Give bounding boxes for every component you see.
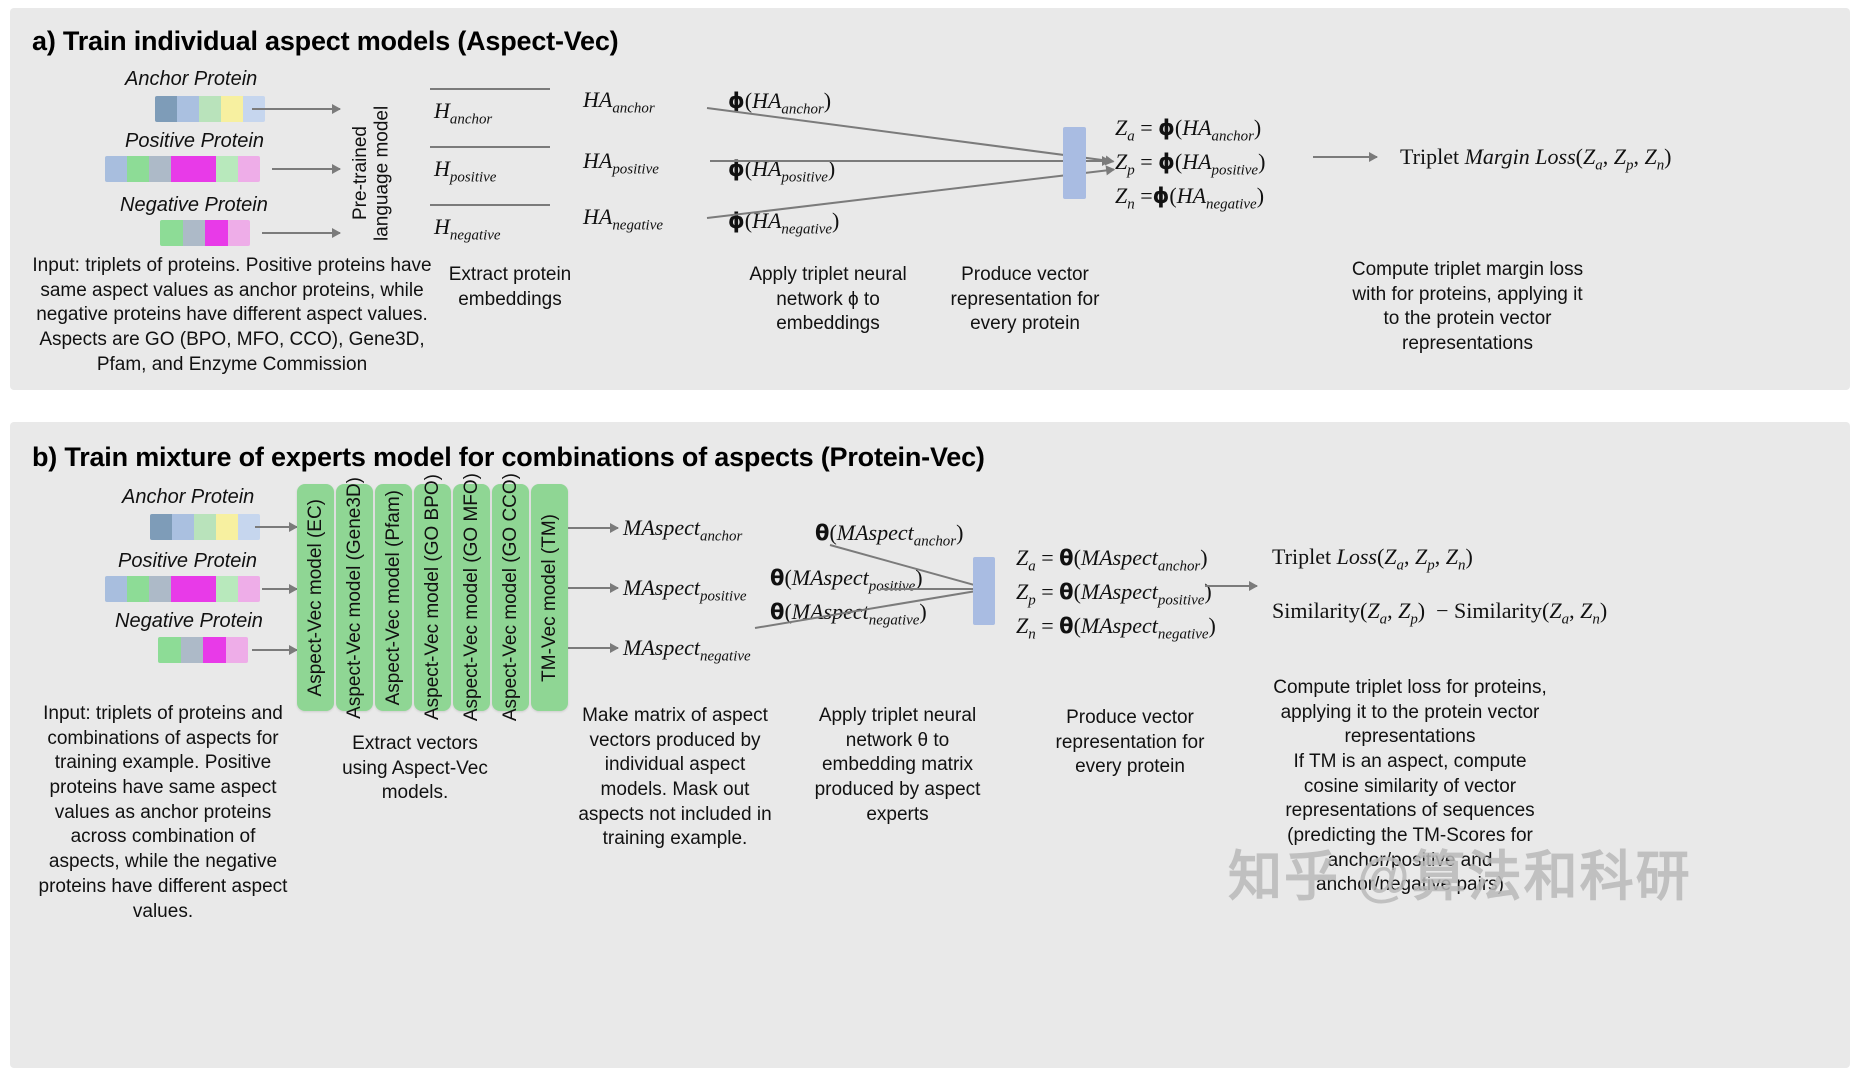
arrow-anchor-to-experts (255, 526, 297, 528)
h-negative-label: Hnegative (434, 214, 501, 244)
maspect-positive-label: MAspectpositive (623, 575, 746, 605)
protein-segment (194, 156, 216, 182)
caption-b-extract: Extract vectorsusing Aspect-Vecmodels. (330, 732, 500, 806)
arrow-to-loss-a (1313, 156, 1377, 158)
ha-positive-label: HApositive (583, 148, 659, 178)
panel-a: a) Train individual aspect models (Aspec… (10, 8, 1850, 390)
panel-a-title: a) Train individual aspect models (Aspec… (32, 26, 618, 57)
protein-segment (238, 156, 260, 182)
arrow-theta-positive (880, 588, 985, 590)
expert-model-box-4[interactable]: Aspect-Vec model (GO MFO) (453, 484, 490, 711)
anchor-protein-label-a: Anchor Protein (125, 68, 257, 91)
caption-b-input: Input: triplets of proteins and combinat… (38, 702, 288, 924)
arrow-experts-to-maspect-positive (568, 587, 618, 589)
pretrained-language-model-label: Pre-trainedlanguage model (350, 106, 393, 241)
expert-model-box-2[interactable]: Aspect-Vec model (Pfam) (375, 484, 412, 711)
z-negative-equation-a: Zn =ɸ(HAnegative) (1115, 183, 1264, 213)
protein-segment (199, 96, 221, 122)
caption-a-input: Input: triplets of proteins. Positive pr… (32, 254, 432, 377)
protein-segment (194, 514, 216, 540)
triplet-loss-b: Triplet Loss(Za, Zp, Zn) (1272, 544, 1473, 574)
negative-protein-bar-a (160, 220, 250, 246)
expert-model-label: Aspect-Vec model (GO MFO) (461, 473, 483, 721)
protein-segment (183, 220, 206, 246)
protein-segment (127, 576, 149, 602)
caption-a-compute: Compute triplet margin losswith for prot… (1335, 258, 1600, 357)
ha-anchor-label: HAanchor (583, 87, 655, 117)
arrow-positive-to-experts (262, 588, 297, 590)
protein-segment (238, 576, 260, 602)
expert-model-label: Aspect-Vec model (Pfam) (383, 490, 405, 705)
protein-segment (150, 514, 172, 540)
protein-segment (171, 576, 193, 602)
expert-model-label: Aspect-Vec model (GO CCO) (500, 473, 522, 721)
theta-positive-label: θ(MAspectpositive) (770, 565, 923, 595)
protein-segment (228, 220, 251, 246)
arrow-experts-to-maspect-anchor (568, 527, 618, 529)
protein-segment (177, 96, 199, 122)
protein-segment (221, 96, 243, 122)
protein-segment (105, 576, 127, 602)
positive-protein-bar-b (105, 576, 260, 602)
expert-model-label: Aspect-Vec model (EC) (305, 499, 327, 696)
protein-segment (216, 514, 238, 540)
protein-segment (216, 156, 238, 182)
protein-segment (105, 156, 127, 182)
caption-a-produce: Produce vectorrepresentation forevery pr… (920, 263, 1130, 337)
z-positive-equation-b: Zp = θ(MAspectpositive) (1016, 579, 1212, 609)
protein-segment (226, 637, 249, 663)
negative-protein-label-a: Negative Protein (120, 194, 268, 217)
z-anchor-equation-a: Za = ɸ(HAanchor) (1115, 115, 1261, 145)
arrow-phi-anchor (707, 107, 1114, 162)
protein-segment (160, 220, 183, 246)
arrow-positive-to-plm (272, 168, 340, 170)
protein-segment (149, 576, 171, 602)
protein-segment (205, 220, 228, 246)
h-negative-line (430, 204, 550, 206)
protein-vector-block-b (973, 557, 995, 625)
positive-protein-label-b: Positive Protein (118, 550, 257, 573)
protein-segment (203, 637, 226, 663)
expert-model-box-6[interactable]: TM-Vec model (TM) (531, 484, 568, 711)
panel-b-title: b) Train mixture of experts model for co… (32, 442, 985, 473)
protein-segment (194, 576, 216, 602)
maspect-negative-label: MAspectnegative (623, 635, 751, 665)
protein-segment (171, 156, 193, 182)
expert-model-box-0[interactable]: Aspect-Vec model (EC) (297, 484, 334, 711)
caption-b-make-matrix: Make matrix of aspectvectors produced by… (575, 704, 775, 852)
arrow-phi-positive (710, 160, 1110, 162)
positive-protein-label-a: Positive Protein (125, 130, 264, 153)
panel-b: b) Train mixture of experts model for co… (10, 422, 1850, 1068)
arrow-experts-to-maspect-negative (568, 647, 618, 649)
protein-vector-block-a (1063, 127, 1086, 199)
expert-model-label: Aspect-Vec model (GO BPO) (422, 474, 444, 720)
caption-a-extract: Extract proteinembeddings (410, 263, 610, 312)
h-anchor-line (430, 88, 550, 90)
caption-b-produce: Produce vectorrepresentation forevery pr… (1040, 706, 1220, 780)
z-negative-equation-b: Zn = θ(MAspectnegative) (1016, 613, 1216, 643)
arrow-to-loss-b (1205, 585, 1257, 587)
negative-protein-label-b: Negative Protein (115, 610, 263, 633)
expert-model-box-1[interactable]: Aspect-Vec model (Gene3D) (336, 484, 373, 711)
positive-protein-bar-a (105, 156, 260, 182)
ha-negative-label: HAnegative (583, 204, 663, 234)
arrow-negative-to-experts (252, 649, 297, 651)
h-positive-label: Hpositive (434, 156, 496, 186)
h-anchor-label: Hanchor (434, 98, 492, 128)
protein-segment (158, 637, 181, 663)
expert-model-box-5[interactable]: Aspect-Vec model (GO CCO) (492, 484, 529, 711)
protein-segment (149, 156, 171, 182)
expert-model-box-3[interactable]: Aspect-Vec model (GO BPO) (414, 484, 451, 711)
caption-b-tm-aspect: If TM is an aspect, computecosine simila… (1250, 750, 1570, 898)
protein-segment (216, 576, 238, 602)
protein-segment (172, 514, 194, 540)
anchor-protein-bar-b (150, 514, 260, 540)
caption-a-apply: Apply triplet neuralnetwork ϕ toembeddin… (728, 263, 928, 337)
z-positive-equation-a: Zp = ɸ(HApositive) (1115, 149, 1265, 179)
protein-segment (155, 96, 177, 122)
triplet-margin-loss-a: Triplet Margin Loss(Za, Zp, Zn) (1400, 144, 1672, 174)
expert-model-label: TM-Vec model (TM) (539, 514, 561, 682)
z-anchor-equation-b: Za = θ(MAspectanchor) (1016, 545, 1208, 575)
protein-segment (181, 637, 204, 663)
anchor-protein-bar-a (155, 96, 265, 122)
negative-protein-bar-b (158, 637, 248, 663)
arrow-anchor-to-plm (252, 108, 340, 110)
similarity-expression-b: Similarity(Za, Zp) − Similarity(Za, Zn) (1272, 598, 1607, 628)
maspect-anchor-label: MAspectanchor (623, 515, 742, 545)
caption-b-apply: Apply triplet neuralnetwork θ toembeddin… (805, 704, 990, 827)
arrow-negative-to-plm (262, 232, 340, 234)
caption-b-compute-loss: Compute triplet loss for proteins,applyi… (1245, 676, 1575, 750)
anchor-protein-label-b: Anchor Protein (122, 486, 254, 509)
h-positive-line (430, 146, 550, 148)
protein-segment (127, 156, 149, 182)
expert-model-label: Aspect-Vec model (Gene3D) (344, 477, 366, 719)
